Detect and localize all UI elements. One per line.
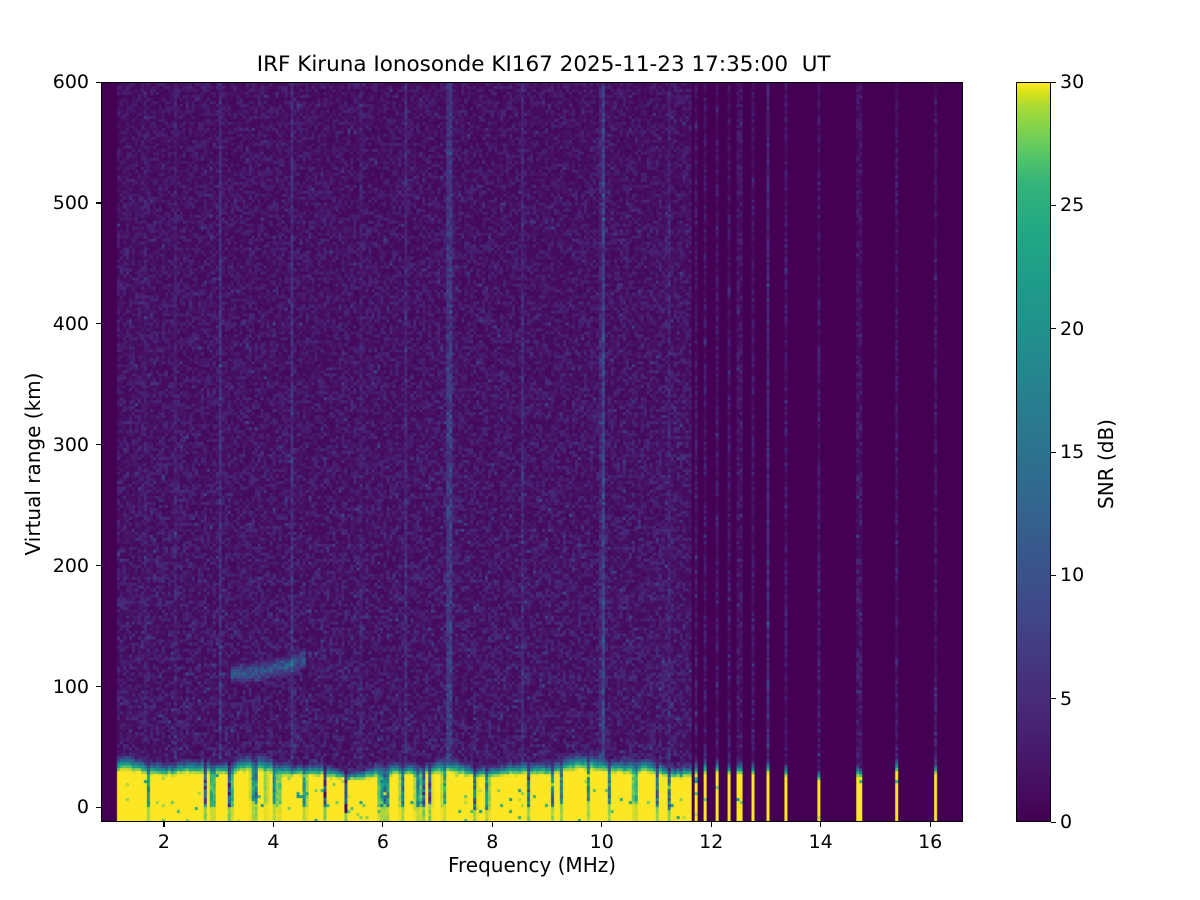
x-tick-label: 14 xyxy=(809,831,833,853)
colorbar-tick-mark xyxy=(1051,698,1056,699)
colorbar-tick-label: 0 xyxy=(1060,811,1072,833)
y-tick-label: 400 xyxy=(1,313,89,335)
title-line-1: IRF Kiruna Ionosonde KI167 2025-11-23 17… xyxy=(257,52,831,77)
colorbar-tick-mark xyxy=(1051,452,1056,453)
y-tick-mark xyxy=(96,807,101,808)
y-tick-mark xyxy=(96,444,101,445)
x-tick-label: 6 xyxy=(377,831,389,853)
colorbar-tick-label: 25 xyxy=(1060,194,1084,216)
x-tick-label: 12 xyxy=(699,831,723,853)
x-tick-label: 10 xyxy=(590,831,614,853)
y-tick-label: 600 xyxy=(1,71,89,93)
x-tick-mark xyxy=(820,822,821,827)
colorbar-tick-label: 30 xyxy=(1060,71,1084,93)
y-tick-mark xyxy=(96,82,101,83)
y-tick-mark xyxy=(96,323,101,324)
y-tick-label: 300 xyxy=(1,434,89,456)
x-tick-label: 16 xyxy=(918,831,942,853)
colorbar-tick-mark xyxy=(1051,822,1056,823)
x-tick-label: 2 xyxy=(158,831,170,853)
ionogram-heatmap xyxy=(102,83,962,821)
colorbar-title: SNR (dB) xyxy=(1094,334,1118,594)
y-tick-label: 0 xyxy=(1,796,89,818)
y-tick-label: 200 xyxy=(1,555,89,577)
colorbar-tick-label: 15 xyxy=(1060,441,1084,463)
x-tick-mark xyxy=(601,822,602,827)
colorbar-tick-mark xyxy=(1051,575,1056,576)
x-tick-label: 8 xyxy=(486,831,498,853)
x-tick-mark xyxy=(492,822,493,827)
x-tick-mark xyxy=(163,822,164,827)
colorbar-tick-label: 20 xyxy=(1060,318,1084,340)
colorbar-tick-label: 5 xyxy=(1060,688,1072,710)
colorbar-tick-mark xyxy=(1051,82,1056,83)
colorbar-tick-mark xyxy=(1051,205,1056,206)
y-tick-mark xyxy=(96,565,101,566)
y-axis-title: Virtual range (km) xyxy=(21,334,45,594)
y-tick-label: 100 xyxy=(1,676,89,698)
snr-colorbar xyxy=(1016,82,1051,822)
y-tick-label: 500 xyxy=(1,192,89,214)
y-tick-mark xyxy=(96,202,101,203)
colorbar-tick-label: 10 xyxy=(1060,564,1084,586)
ionogram-plot-area[interactable] xyxy=(101,82,963,822)
x-tick-mark xyxy=(273,822,274,827)
x-axis-title: Frequency (MHz) xyxy=(101,853,963,877)
colorbar-tick-mark xyxy=(1051,328,1056,329)
x-tick-mark xyxy=(930,822,931,827)
x-tick-label: 4 xyxy=(267,831,279,853)
x-tick-mark xyxy=(711,822,712,827)
ionogram-figure: IRF Kiruna Ionosonde KI167 2025-11-23 17… xyxy=(0,0,1200,900)
x-tick-mark xyxy=(382,822,383,827)
y-tick-mark xyxy=(96,686,101,687)
